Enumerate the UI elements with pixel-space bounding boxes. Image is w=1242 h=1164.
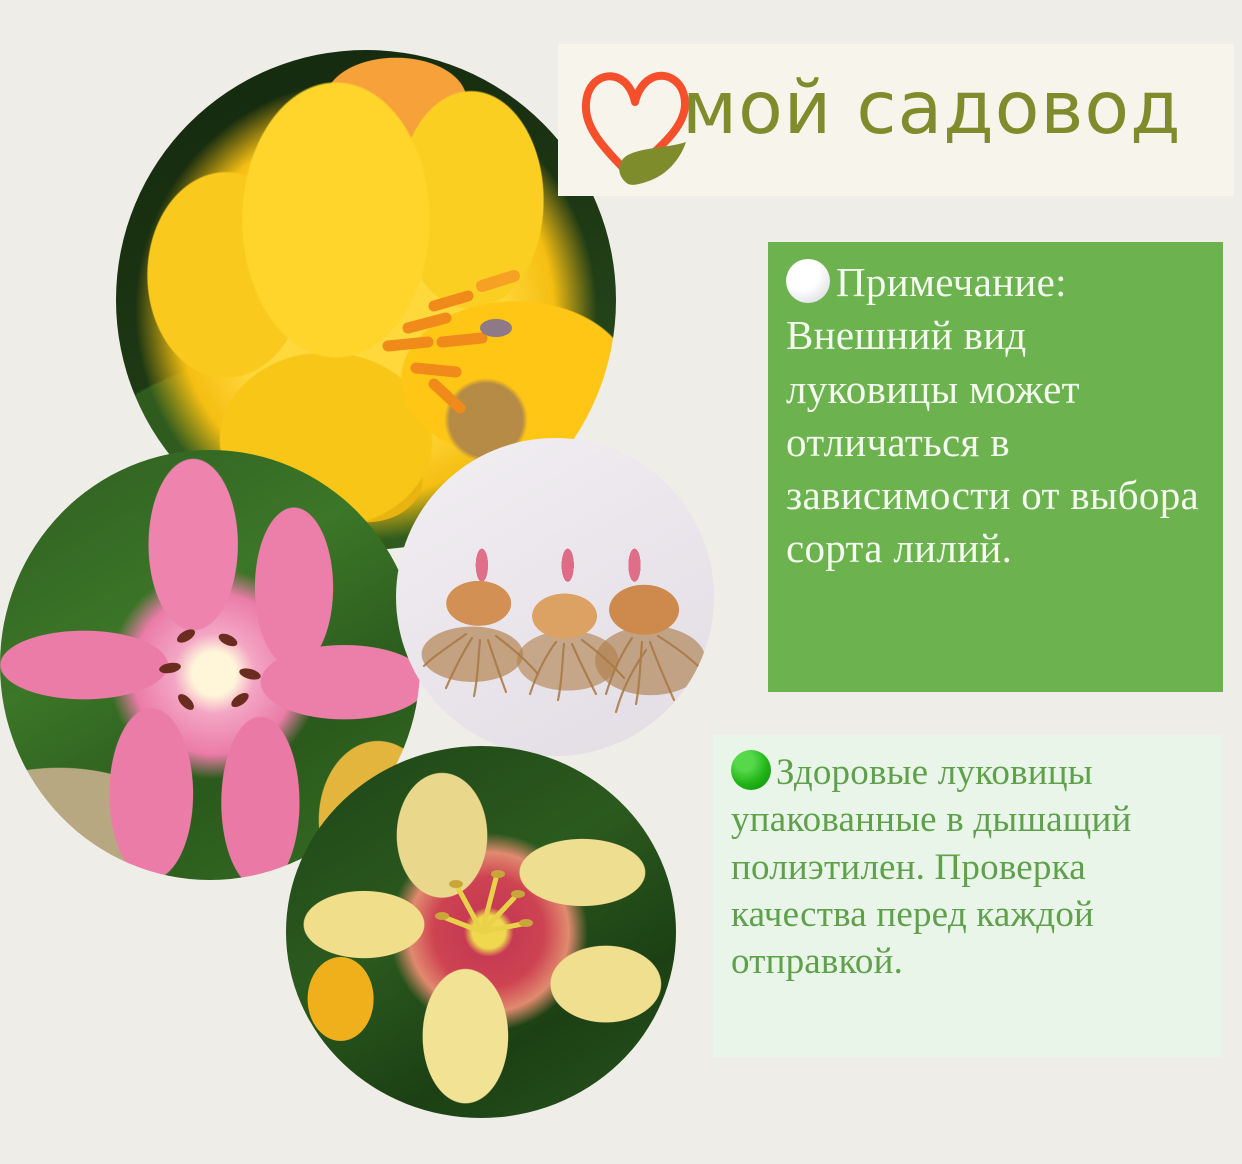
green-circle-bullet-icon [731, 750, 771, 790]
health-panel-text: Здоровые луковицы упакованные в дышащий … [731, 752, 1131, 982]
health-panel-body: Здоровые луковицы упакованные в дышащий … [731, 749, 1206, 986]
note-panel: Примечание: Внешний вид луковицы может о… [768, 242, 1223, 692]
brand-logo[interactable]: мой садовод [578, 58, 1228, 188]
note-panel-text: Примечание: Внешний вид луковицы может о… [786, 259, 1199, 571]
bicolor-lily-stamens-icon [286, 746, 676, 1118]
white-circle-bullet-icon [786, 259, 830, 303]
bicolor-lily-photo [286, 746, 676, 1118]
note-panel-body: Примечание: Внешний вид луковицы может о… [786, 256, 1205, 576]
brand-logo-text: мой садовод [682, 72, 1182, 145]
lily-bulbs-photo [396, 438, 714, 756]
page-root: мой садовод Примечание: Внешний вид луко… [0, 0, 1242, 1164]
health-panel: Здоровые луковицы упакованные в дышащий … [713, 735, 1222, 1057]
bulb-roots-icon [396, 438, 714, 756]
